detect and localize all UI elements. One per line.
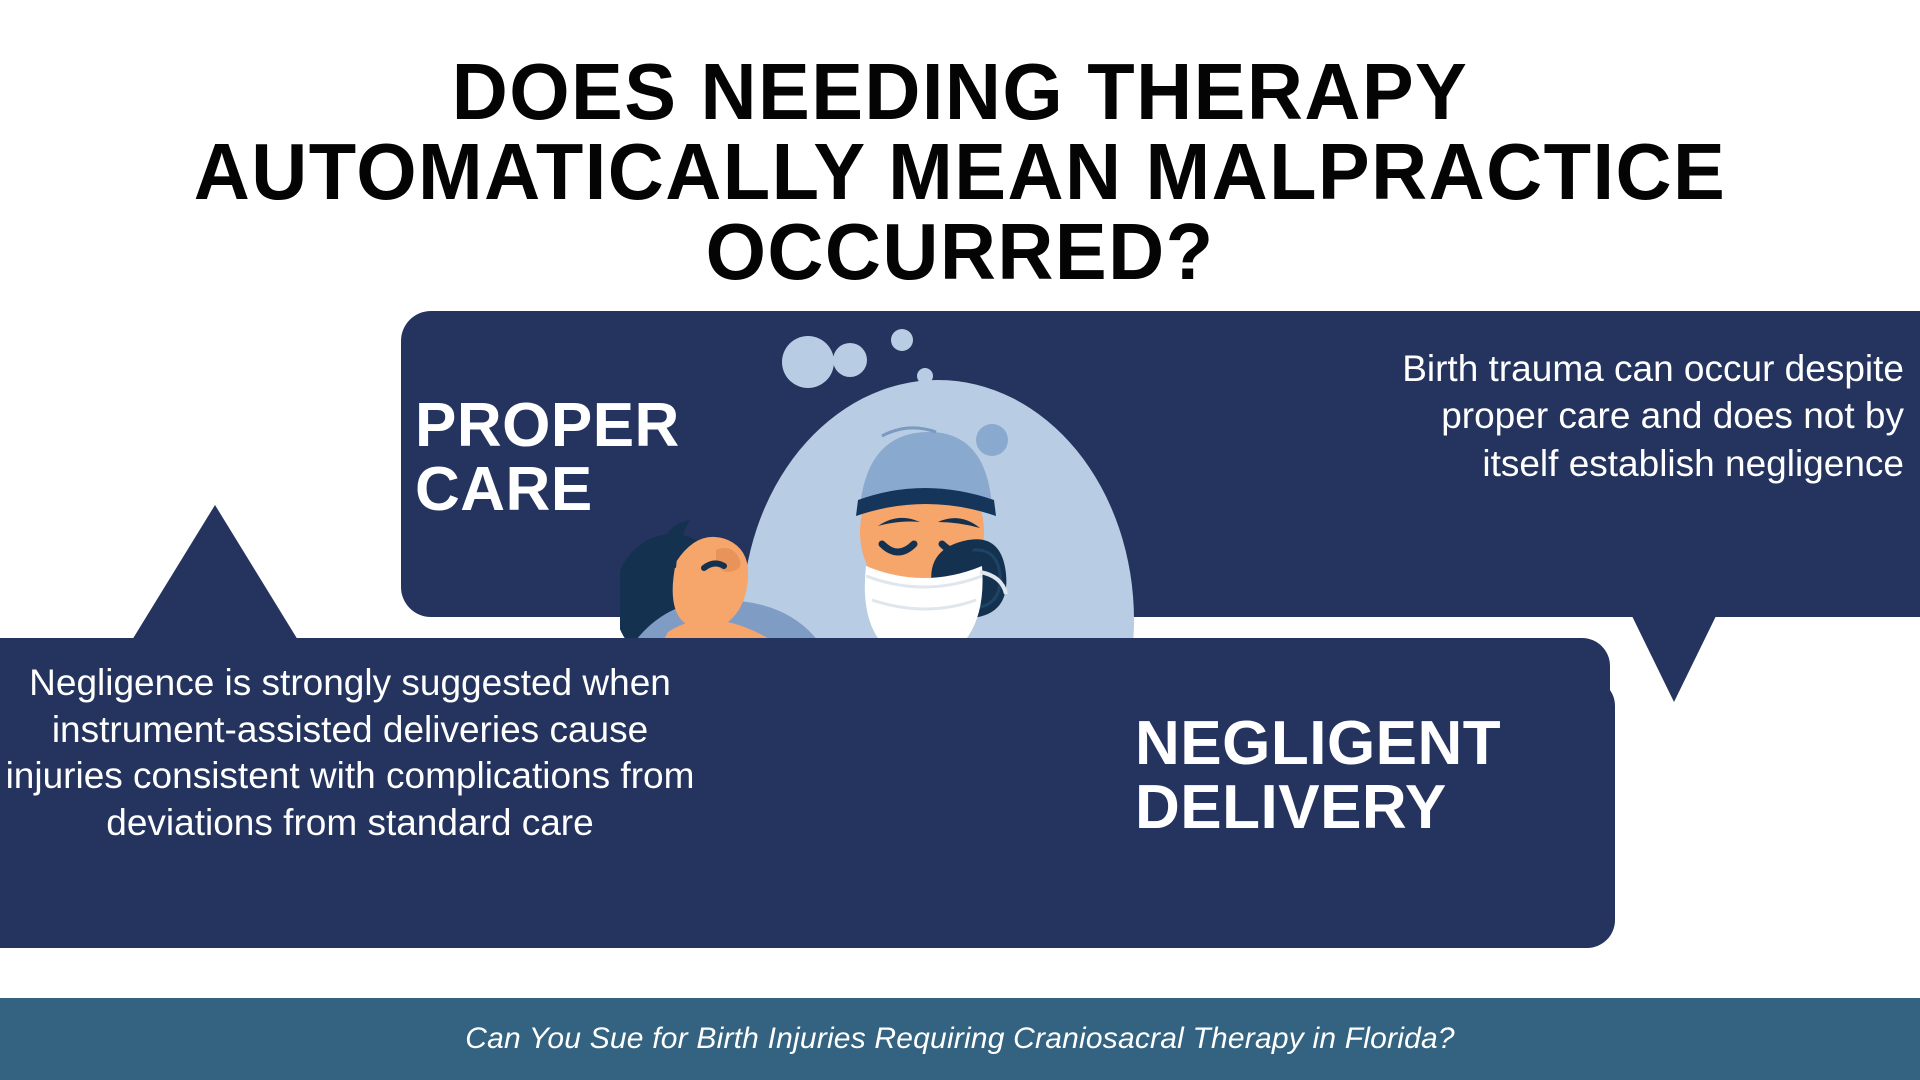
proper-care-label: PROPER CARE — [415, 394, 775, 522]
title-line-1: DOES NEEDING THERAPY — [29, 52, 1891, 132]
negligent-delivery-bubble-tail — [129, 505, 301, 645]
negligent-delivery-label-line2: DELIVERY — [1135, 773, 1447, 842]
negligent-delivery-label: NEGLIGENT DELIVERY — [1135, 712, 1605, 840]
infographic-canvas: DOES NEEDING THERAPY AUTOMATICALLY MEAN … — [0, 0, 1920, 1080]
proper-care-body-text: Birth trauma can occur despite proper ca… — [1374, 345, 1904, 487]
proper-care-label-line1: PROPER — [415, 391, 680, 460]
footer-bar: Can You Sue for Birth Injuries Requiring… — [0, 998, 1920, 1080]
proper-care-panel-tail — [1632, 616, 1716, 702]
footer-caption: Can You Sue for Birth Injuries Requiring… — [0, 998, 1920, 1080]
negligent-delivery-label-line1: NEGLIGENT — [1135, 709, 1501, 778]
negligent-delivery-body-text: Negligence is strongly suggested when in… — [0, 660, 700, 846]
title-line-3: OCCURRED? — [29, 212, 1891, 292]
proper-care-label-line2: CARE — [415, 455, 593, 524]
title-line-2: AUTOMATICALLY MEAN MALPRACTICE — [29, 132, 1891, 212]
page-title: DOES NEEDING THERAPY AUTOMATICALLY MEAN … — [29, 52, 1891, 292]
